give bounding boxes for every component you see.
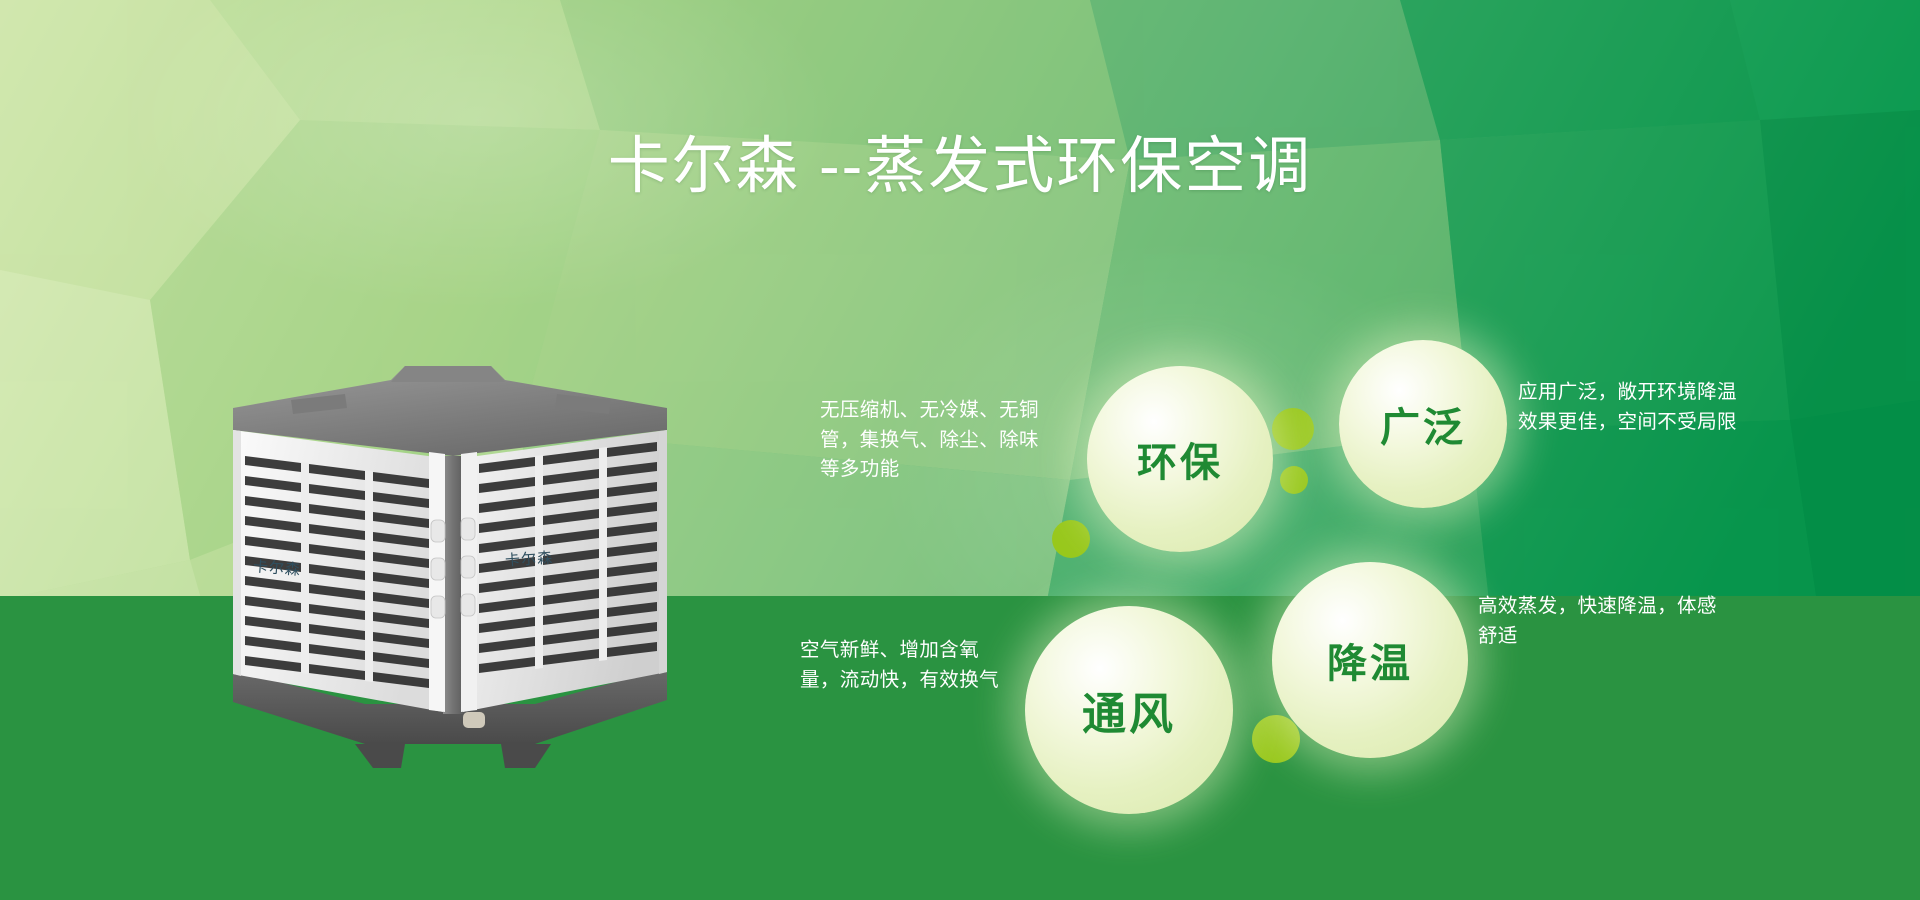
- feature-caption-tongfeng: 空气新鲜、增加含氧量，流动快，有效换气: [800, 636, 1016, 695]
- page-title: 卡尔森 --蒸发式环保空调: [0, 134, 1920, 199]
- product-image-evaporative-air-cooler: 卡尔森 卡尔森: [205, 352, 690, 772]
- decorative-dot-3: [1052, 520, 1090, 558]
- feature-circle-jiangwen[interactable]: 降温: [1272, 562, 1468, 758]
- feature-caption-guangfan: 应用广泛，敞开环境降温效果更佳，空间不受局限: [1518, 378, 1744, 437]
- feature-circle-huanbao[interactable]: 环保: [1087, 366, 1273, 552]
- feature-caption-jiangwen: 高效蒸发，快速降温，体感舒适: [1478, 592, 1730, 651]
- feature-circle-guangfan[interactable]: 广泛: [1339, 340, 1507, 508]
- product-brand-left: 卡尔森: [252, 555, 301, 580]
- product-brand-right: 卡尔森: [504, 547, 553, 571]
- decorative-dot-4: [1252, 715, 1300, 763]
- feature-caption-huanbao: 无压缩机、无冷媒、无铜管，集换气、除尘、除味等多功能: [820, 396, 1056, 485]
- feature-circle-tongfeng[interactable]: 通风: [1025, 606, 1233, 814]
- decorative-dot-1: [1272, 408, 1314, 450]
- promo-banner: 卡尔森 --蒸发式环保空调: [0, 0, 1920, 900]
- decorative-dot-2: [1280, 466, 1308, 494]
